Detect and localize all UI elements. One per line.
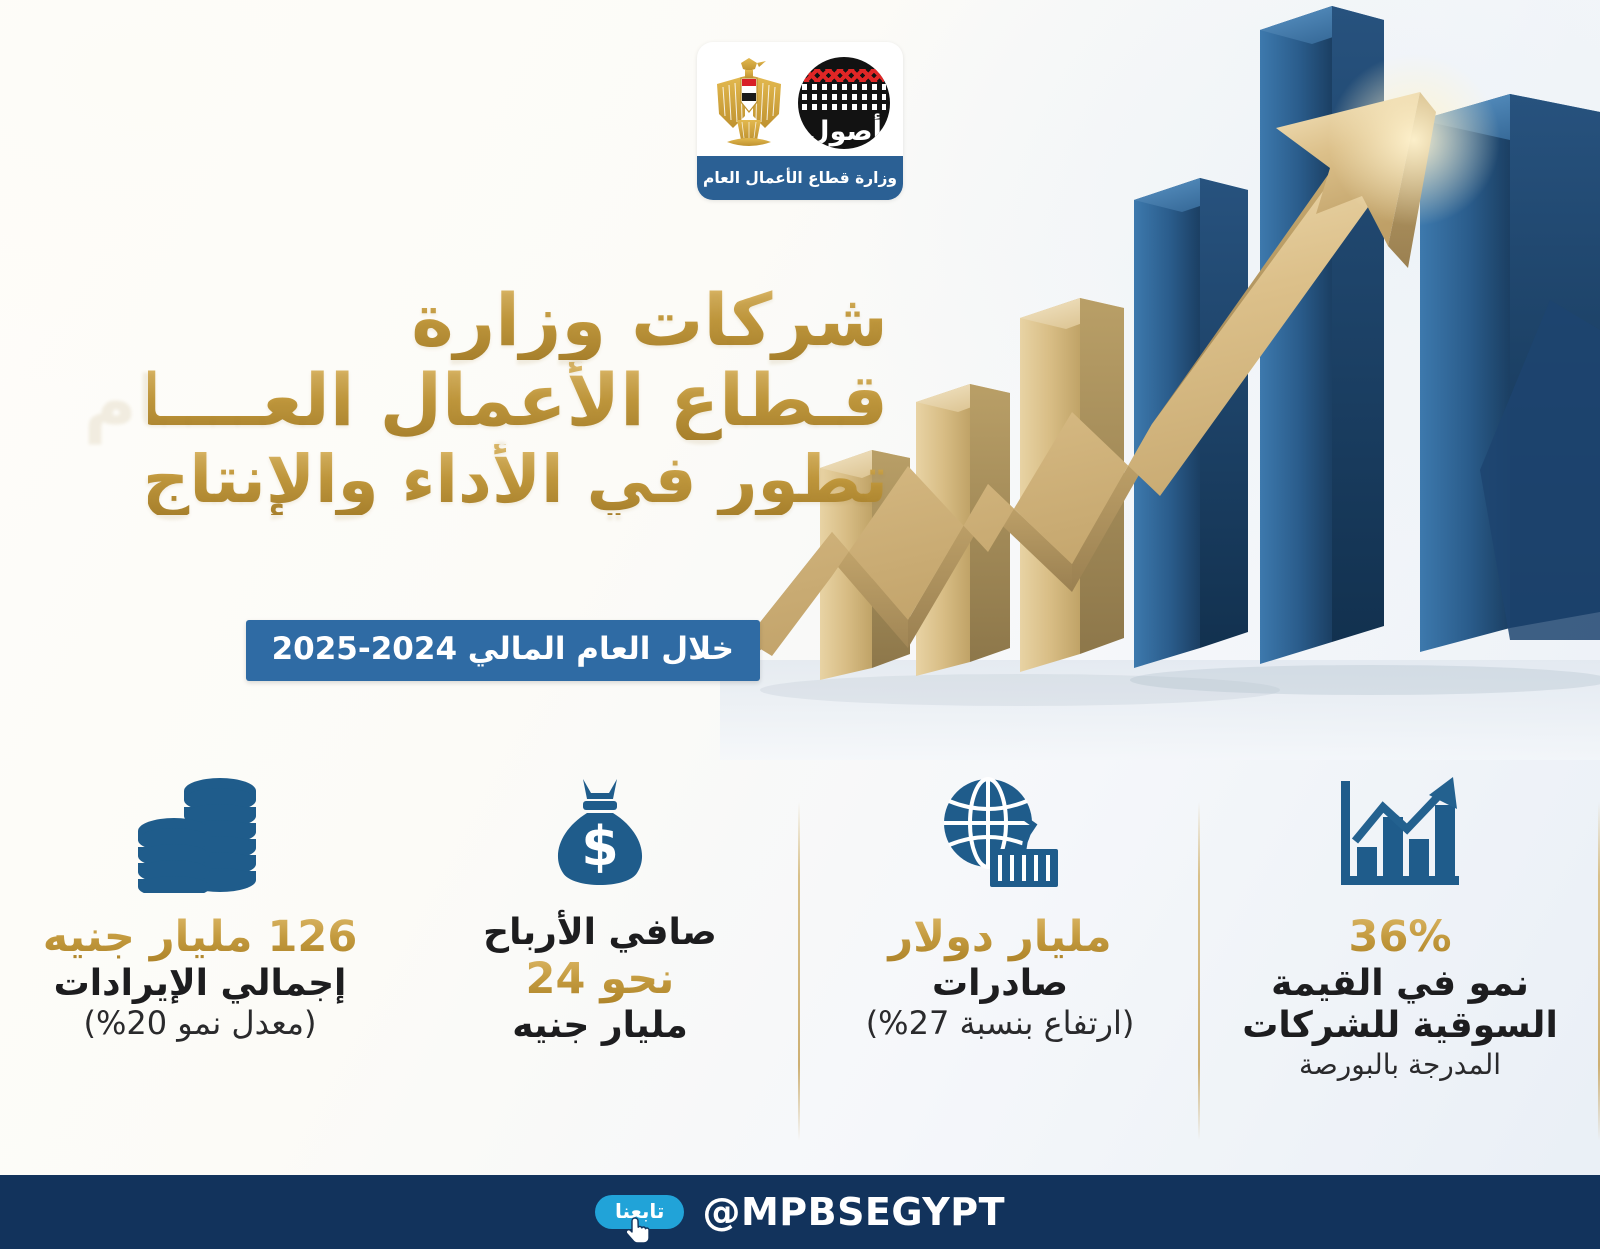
stat-label: صادرات [866,963,1135,1005]
assoul-circular-emblem: أصول [798,57,890,149]
stat-note: (ارتفاع بنسبة 27%) [866,1005,1135,1043]
fiscal-year-text: خلال العام المالي 2024-2025 [272,631,734,667]
stat-value: 36% [1242,912,1558,963]
headline-line-1: شركات وزارة [148,282,888,360]
social-footer-bar: تابعنا @MPBSEGYPT [0,1175,1600,1249]
stat-text-block: 36% نمو في القيمة السوقية للشركات المدرج… [1242,912,1558,1081]
stat-value: مليار دولار [866,912,1135,963]
stat-text-block: مليار دولار صادرات (ارتفاع بنسبة 27%) [866,912,1135,1043]
headline-block: شركات وزارة قـطاع الأعمال العــــام تطور… [148,282,888,515]
stat-card-market-value-growth: 36% نمو في القيمة السوقية للشركات المدرج… [1200,768,1600,1158]
stat-label-line-1: نمو في القيمة [1242,963,1558,1005]
social-handle[interactable]: @MPBSEGYPT [702,1190,1005,1234]
stat-value: 126 مليار جنيه [43,912,358,963]
globe-container-icon [936,768,1064,900]
stat-text-block: صافي الأرباح نحو 24 مليار جنيه [483,912,717,1048]
stats-row: 126 مليار جنيه إجمالي الإيرادات (معدل نم… [0,768,1600,1158]
stat-card-total-revenues: 126 مليار جنيه إجمالي الإيرادات (معدل نم… [0,768,400,1158]
stat-label-line-2: السوقية للشركات [1242,1005,1558,1047]
stat-value: نحو 24 [483,954,717,1005]
headline-line-2: قـطاع الأعمال العــــام [148,362,888,440]
egypt-eagle-emblem [710,53,788,153]
infographic-canvas: أصول [0,0,1600,1249]
logo-emblems: أصول [697,42,903,158]
stat-label: صافي الأرباح [483,912,717,954]
headline-line-3: تطور في الأداء والإنتاج [148,444,888,515]
stat-label: إجمالي الإيرادات [43,963,358,1005]
stat-card-exports: مليار دولار صادرات (ارتفاع بنسبة 27%) [800,768,1200,1158]
coins-stack-icon [134,768,266,900]
follow-us-button[interactable]: تابعنا [595,1195,685,1229]
emblem-white-wave-3 [802,104,886,110]
emblem-red-zigzag [804,69,884,82]
ministry-name-band: وزارة قطاع الأعمال العام [697,156,903,200]
stat-note: (معدل نمو 20%) [43,1005,358,1043]
ministry-logo: أصول [697,42,903,200]
bar-chart-arrow-icon [1335,768,1465,900]
svg-text:$: $ [581,815,619,878]
stat-text-block: 126 مليار جنيه إجمالي الإيرادات (معدل نم… [43,912,358,1043]
money-bag-icon: $ [539,768,661,900]
stat-unit: مليار جنيه [483,1005,717,1047]
stat-card-net-profits: $ صافي الأرباح نحو 24 مليار جنيه [400,768,800,1158]
emblem-white-wave-2 [802,94,886,100]
fiscal-year-banner: خلال العام المالي 2024-2025 [246,620,760,681]
hand-pointer-icon [627,1216,653,1249]
emblem-white-wave-1 [802,84,886,90]
assoul-wordmark: أصول [798,118,890,145]
stat-label-line-3: المدرجة بالبورصة [1242,1048,1558,1081]
ministry-name-text: وزارة قطاع الأعمال العام [703,169,897,187]
